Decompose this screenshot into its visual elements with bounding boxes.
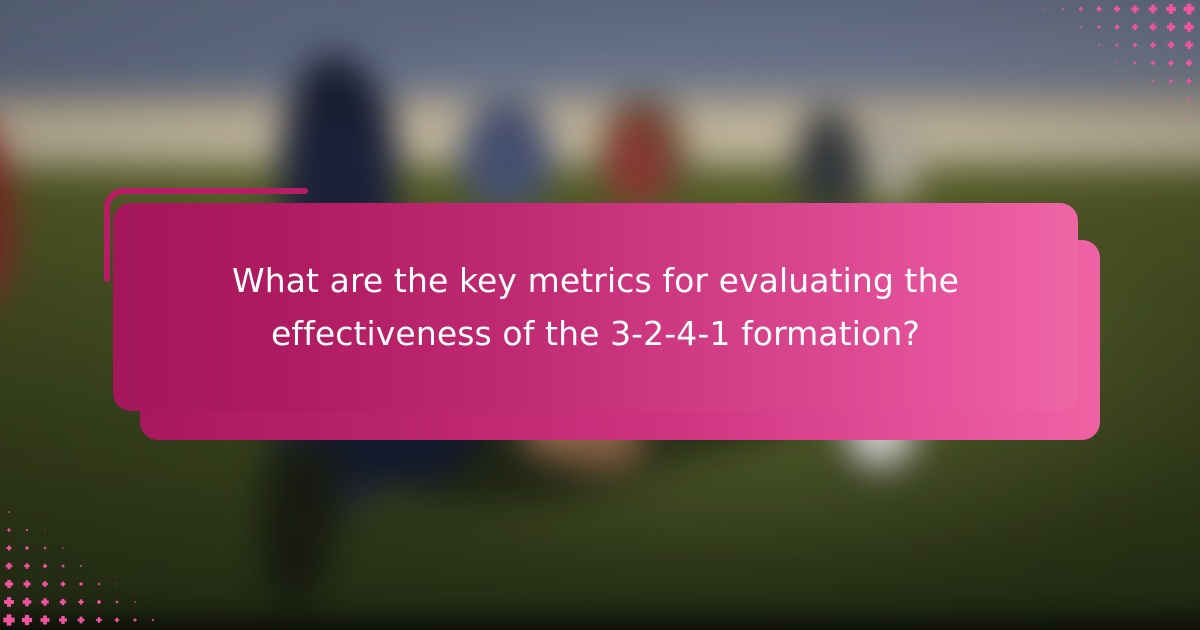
social-card-canvas: What are the key metrics for evaluating …	[0, 0, 1200, 630]
headline-text: What are the key metrics for evaluating …	[113, 254, 1078, 361]
headline-card: What are the key metrics for evaluating …	[113, 203, 1078, 411]
